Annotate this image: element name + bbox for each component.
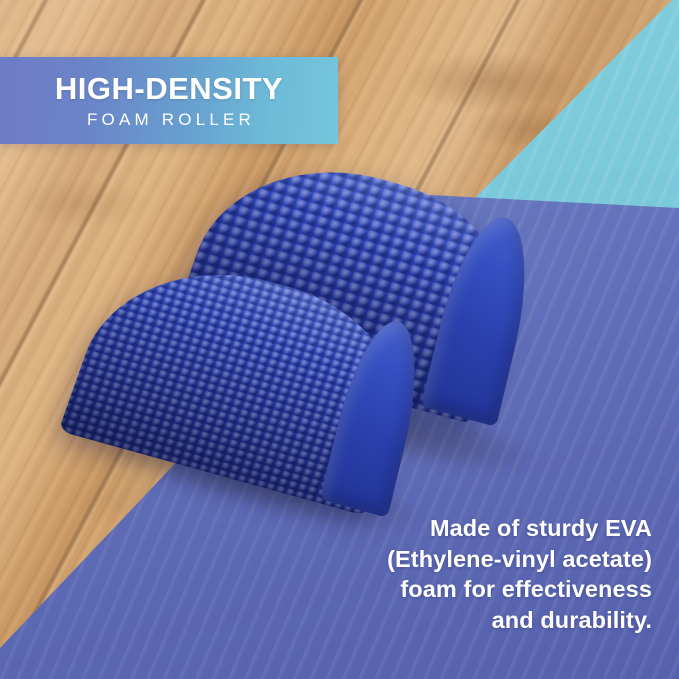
feature-description: Made of sturdy EVA (Ethylene-vinyl aceta… bbox=[312, 513, 652, 635]
feature-line-1: Made of sturdy EVA bbox=[312, 513, 652, 544]
product-image-canvas: HIGH-DENSITY FOAM ROLLER Made of sturdy … bbox=[0, 0, 679, 679]
feature-line-4: and durability. bbox=[312, 605, 652, 636]
banner-subtitle: FOAM ROLLER bbox=[83, 111, 255, 128]
feature-line-2: (Ethylene-vinyl acetate) bbox=[312, 544, 652, 575]
banner-title: HIGH-DENSITY bbox=[55, 73, 283, 104]
header-banner: HIGH-DENSITY FOAM ROLLER bbox=[0, 57, 338, 144]
feature-line-3: foam for effectiveness bbox=[312, 574, 652, 605]
